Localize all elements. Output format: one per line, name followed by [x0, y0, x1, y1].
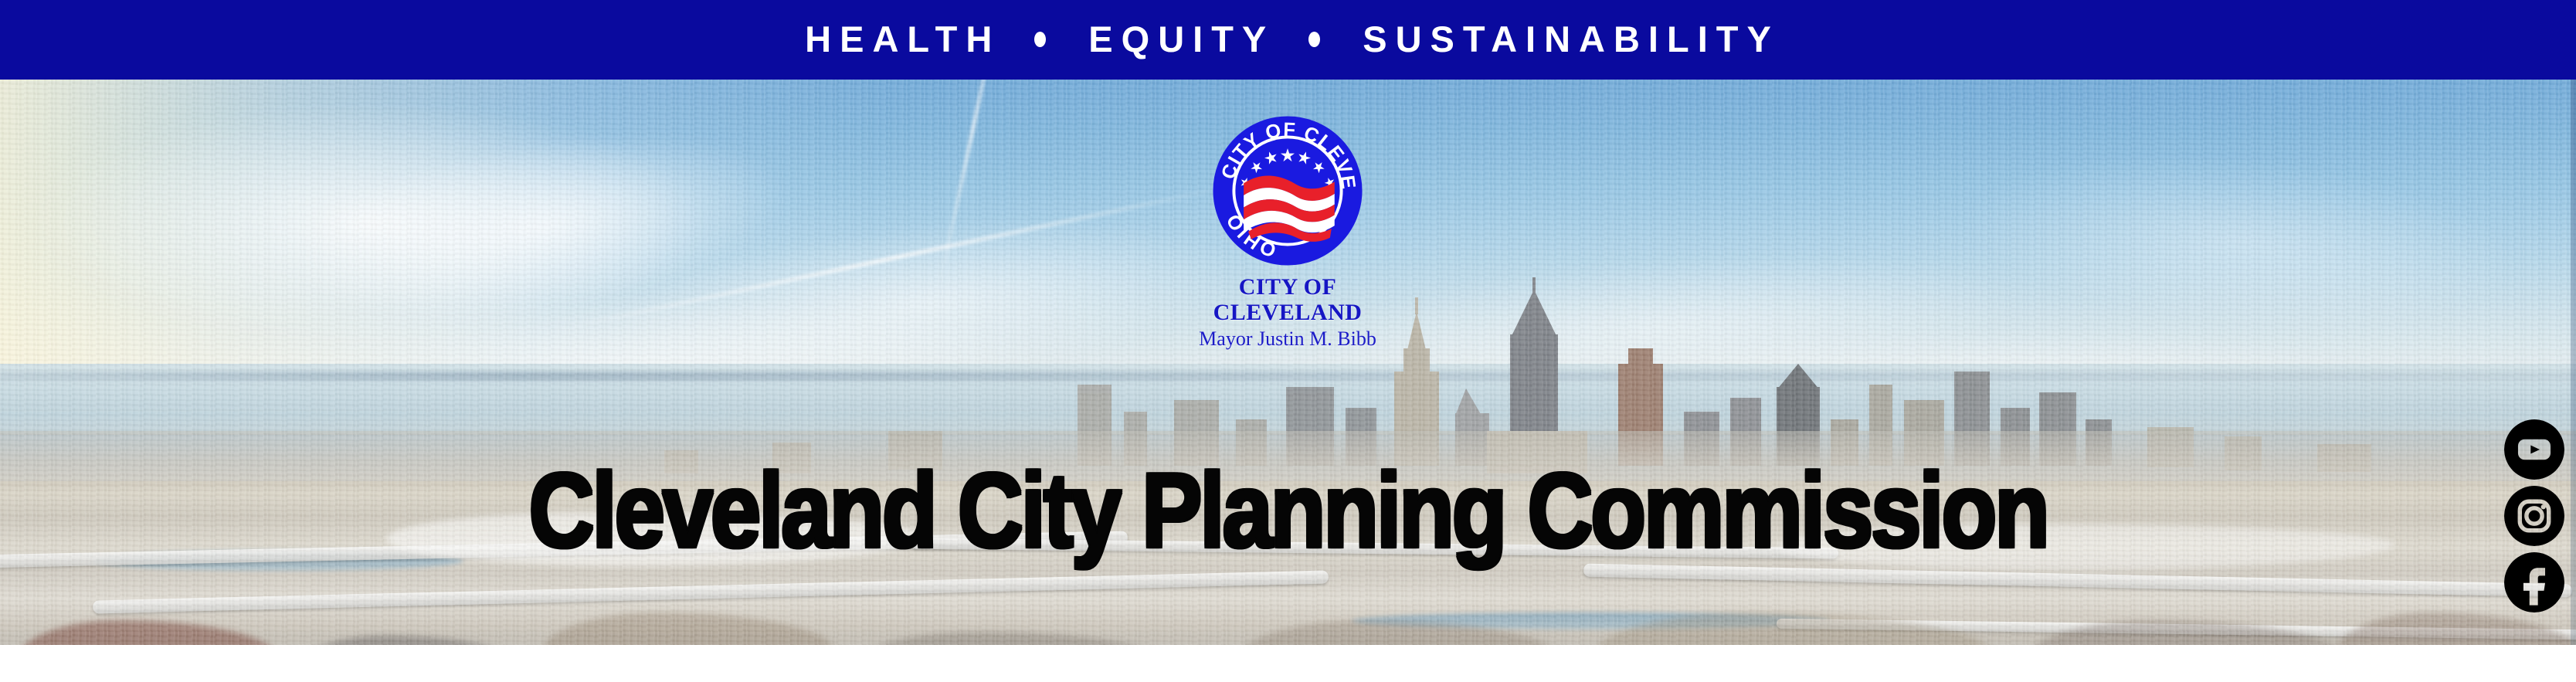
city-seal-block: CITY OF CLEVELAND OHIO	[1191, 115, 1384, 351]
city-of-cleveland-seal-icon: CITY OF CLEVELAND OHIO	[1212, 115, 1363, 266]
seal-organization-label: CITY OF CLEVELAND	[1191, 274, 1384, 325]
tagline-word-equity: EQUITY	[1080, 21, 1274, 57]
youtube-icon[interactable]	[2504, 419, 2564, 480]
tagline-bullet-dot-1	[1034, 32, 1046, 47]
tagline-inner: HEALTH EQUITY SUSTAINABILITY	[796, 21, 1780, 57]
seal-mayor-label: Mayor Justin M. Bibb	[1191, 328, 1384, 351]
tagline-word-health: HEALTH	[796, 21, 1000, 57]
tagline-word-sustainability: SUSTAINABILITY	[1354, 21, 1780, 57]
hero-banner-photo: CITY OF CLEVELAND OHIO	[0, 80, 2576, 645]
page-root: HEALTH EQUITY SUSTAINABILITY	[0, 0, 2576, 682]
tagline-bar: HEALTH EQUITY SUSTAINABILITY	[0, 0, 2576, 80]
social-media-rail	[2497, 419, 2571, 612]
page-title: Cleveland City Planning Commission	[0, 458, 2576, 564]
tagline-bullet-dot-2	[1308, 32, 1320, 47]
right-edge-strip	[2571, 80, 2576, 645]
instagram-icon[interactable]	[2504, 486, 2564, 546]
facebook-icon[interactable]	[2504, 552, 2564, 612]
